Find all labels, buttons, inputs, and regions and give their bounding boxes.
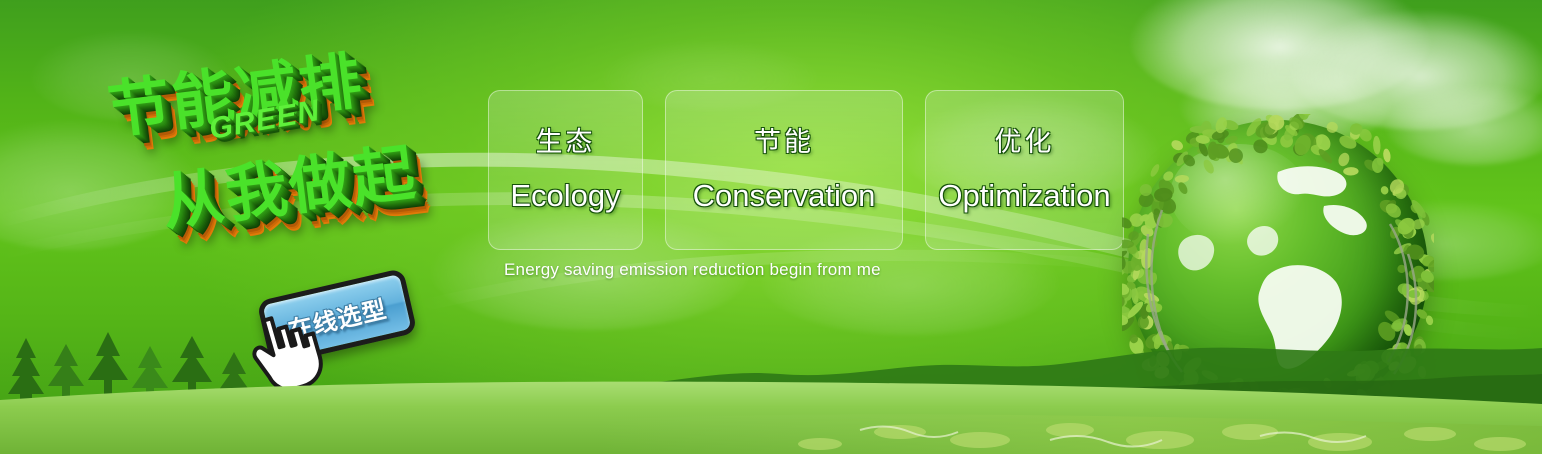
feature-card-list: 生态 Ecology 节能 Conservation 优化 Optimizati…	[488, 90, 1124, 250]
banner-tagline: Energy saving emission reduction begin f…	[504, 260, 881, 280]
feature-card-en-label: Ecology	[510, 180, 620, 211]
feature-card-optimization[interactable]: 优化 Optimization	[925, 90, 1124, 250]
feature-card-cn-label: 节能	[754, 129, 814, 156]
eco-banner: 节能减排 GREEN 从我做起 生态 Ecology 节能 Conservati…	[0, 0, 1542, 454]
feature-card-cn-label: 生态	[536, 129, 596, 156]
headline-3d-text: 节能减排 GREEN 从我做起	[82, 14, 507, 291]
feature-card-en-label: Optimization	[938, 180, 1110, 211]
feature-card-en-label: Conservation	[693, 180, 876, 211]
grass-field	[0, 370, 1542, 454]
feature-card-conservation[interactable]: 节能 Conservation	[665, 90, 903, 250]
feature-card-cn-label: 优化	[995, 129, 1055, 156]
feature-card-ecology[interactable]: 生态 Ecology	[488, 90, 643, 250]
